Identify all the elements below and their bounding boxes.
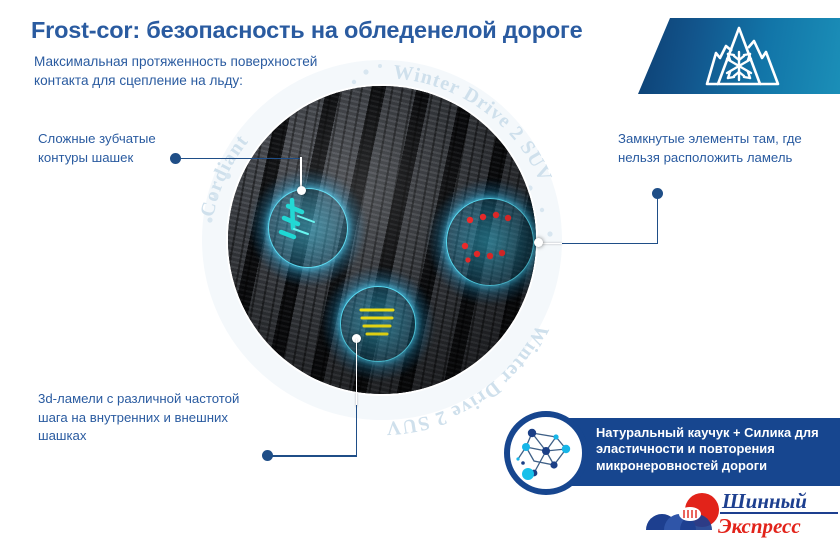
leader-line-top-right-h (560, 243, 658, 245)
molecule-icon (504, 411, 588, 495)
logo-word-primary: Шинный (722, 489, 807, 514)
tire-tread-photo (228, 86, 536, 394)
badge-notch (638, 18, 684, 58)
logo-word-secondary: Экспресс (718, 514, 801, 539)
leader-line-bottom-left-h (268, 455, 357, 457)
callout-bottom-left: 3d-ламели с различной частотой шага на в… (38, 390, 253, 446)
brand-logo: Шинный Экспресс (640, 490, 840, 546)
slide-canvas: Frost-cor: безопасность на обледенелой д… (0, 0, 840, 550)
snowflake-mountain-icon (696, 24, 782, 90)
tread-vignette (228, 86, 536, 394)
callout-dot-bottom-left (262, 450, 273, 461)
three-peak-mountain-snowflake-badge (638, 18, 840, 94)
leader-line-bottom-left-v (356, 405, 358, 456)
feature-box: Натуральный каучук + Силика для эластичн… (552, 418, 840, 486)
logo-mark-icon (640, 492, 730, 538)
leader-line-top-right-tip (540, 243, 562, 245)
hotspot-dot-top-right (534, 238, 543, 247)
leader-line-top-right-v (657, 196, 659, 244)
molecule-badge (504, 411, 588, 495)
leader-line-bottom-left-v-top (356, 339, 358, 407)
hotspot-dot-top-left (297, 186, 306, 195)
callout-top-right: Замкнутые элементы там, где нельзя распо… (618, 130, 818, 167)
feature-box-text: Натуральный каучук + Силика для эластичн… (596, 425, 840, 474)
callout-top-left: Сложные зубчатые контуры шашек (38, 130, 208, 167)
